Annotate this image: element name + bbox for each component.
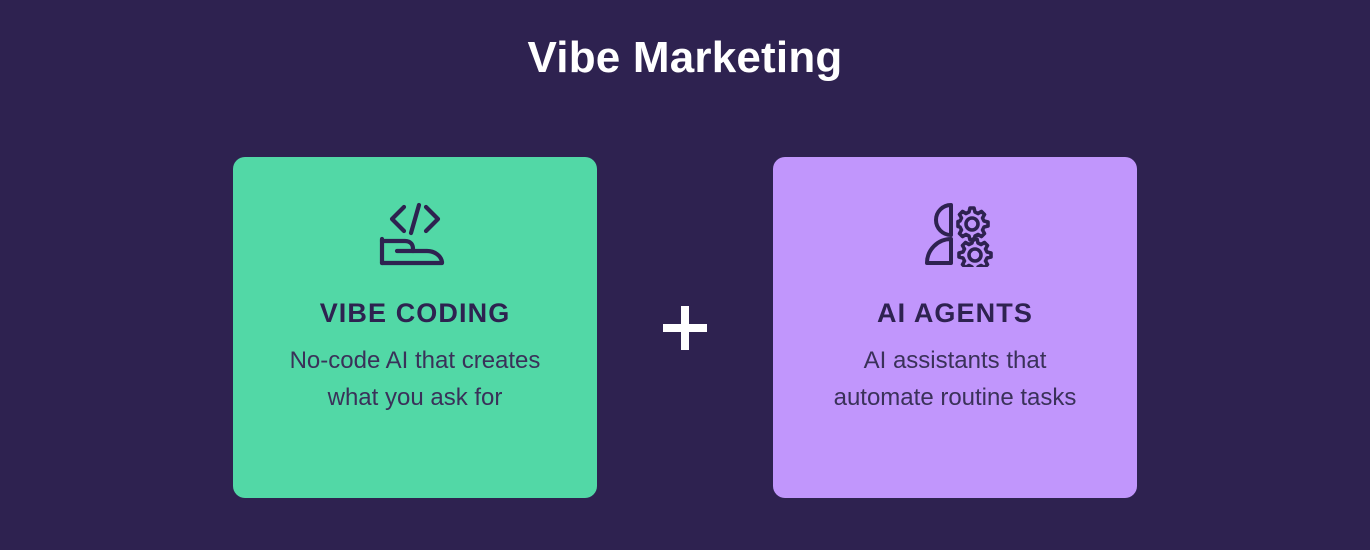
plus-vertical-bar xyxy=(681,306,689,350)
code-shoe-icon xyxy=(377,201,453,267)
slide-canvas: Vibe Marketing VIBE CODING No-code AI th… xyxy=(0,0,1370,550)
card-heading: AI AGENTS xyxy=(877,297,1033,329)
concept-cards-row: VIBE CODING No-code AI that creates what… xyxy=(233,157,1137,498)
card-body-text: No-code AI that creates what you ask for xyxy=(275,342,555,416)
card-vibe-coding[interactable]: VIBE CODING No-code AI that creates what… xyxy=(233,157,597,498)
card-ai-agents[interactable]: AI AGENTS AI assistants that automate ro… xyxy=(773,157,1137,498)
page-title: Vibe Marketing xyxy=(0,30,1370,86)
card-heading: VIBE CODING xyxy=(320,297,511,329)
card-body-text: AI assistants that automate routine task… xyxy=(815,342,1095,416)
ai-agent-head-gears-icon xyxy=(917,201,993,267)
plus-icon xyxy=(655,298,715,358)
